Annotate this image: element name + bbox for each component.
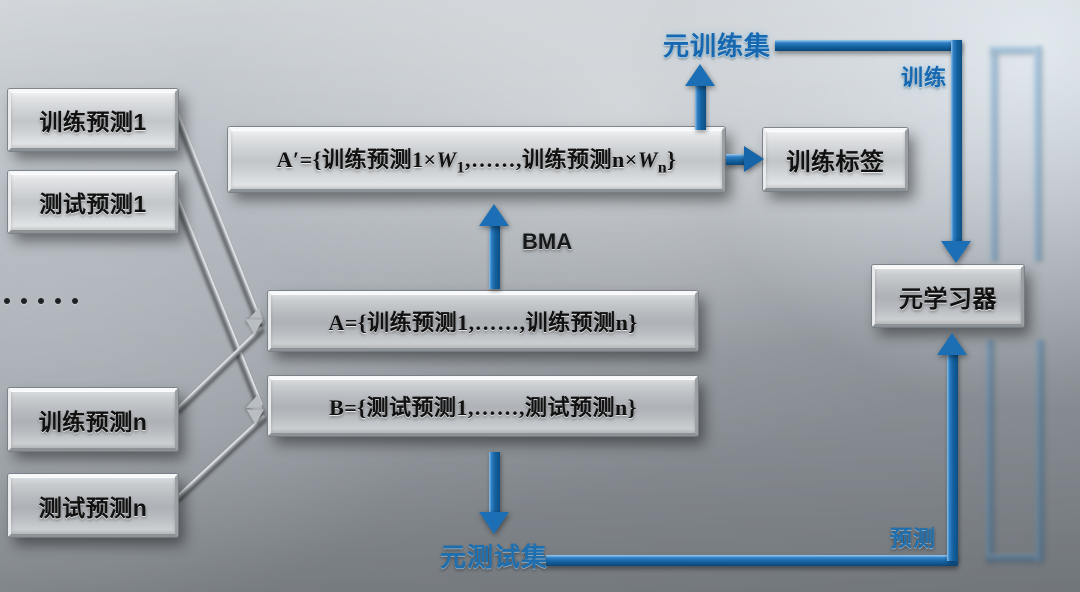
label-meta-train-set: 元训练集 xyxy=(663,26,771,63)
arrow-bma-shaft xyxy=(489,225,500,289)
arrow-aprime-to-trainlabel-head xyxy=(744,146,764,172)
label-bma: BMA xyxy=(522,229,572,255)
connector-testn-to-b xyxy=(174,414,267,501)
box-a[interactable]: A={训练预测1,……,训练预测n} xyxy=(268,291,698,351)
weight-symbol-1: W xyxy=(437,147,457,172)
box-test-pred-1[interactable]: 测试预测1 xyxy=(8,171,178,233)
route-train-arrowhead xyxy=(941,241,971,263)
a-prime-mid: ,……,训练预测n× xyxy=(465,147,638,172)
arrow-to-meta-test-shaft xyxy=(489,452,500,514)
box-b[interactable]: B={测试预测1,……,测试预测n} xyxy=(268,376,698,436)
label-predict: 预测 xyxy=(890,521,936,553)
box-train-label[interactable]: 训练标签 xyxy=(763,128,908,191)
box-label: 测试预测1 xyxy=(39,185,146,219)
route-predict-bottom-horizontal xyxy=(546,555,958,566)
label-meta-test-set: 元测试集 xyxy=(440,537,548,574)
a-prime-formula: A′={训练预测1×W1,……,训练预测n×Wn} xyxy=(277,142,677,177)
box-label: 训练标签 xyxy=(787,142,885,177)
box-train-pred-n[interactable]: 训练预测n xyxy=(8,388,178,451)
ellipsis-marker xyxy=(4,298,78,304)
a-formula: A={训练预测1,……,训练预测n} xyxy=(329,305,638,337)
box-label: 测试预测n xyxy=(39,489,148,523)
weight-sub-1: 1 xyxy=(457,159,465,176)
arrow-to-meta-train-shaft xyxy=(695,86,706,130)
label-train: 训练 xyxy=(901,60,947,92)
a-prime-lhs: A′={训练预测1× xyxy=(277,147,437,172)
box-a-prime[interactable]: A′={训练预测1×W1,……,训练预测n×Wn} xyxy=(228,127,725,192)
a-prime-rhs: } xyxy=(667,147,676,172)
box-label: 训练预测1 xyxy=(39,103,146,137)
arrow-bma-head xyxy=(479,204,509,226)
weight-symbol-n: W xyxy=(638,147,658,172)
route-train-top-horizontal xyxy=(775,40,962,51)
box-train-pred-1[interactable]: 训练预测1 xyxy=(8,89,178,151)
b-formula: B={测试预测1,……,测试预测n} xyxy=(329,390,637,422)
arrow-to-meta-test-head xyxy=(479,512,509,534)
connector-trainn-to-a xyxy=(174,326,264,413)
route-predict-arrowhead xyxy=(937,333,967,355)
box-label: 元学习器 xyxy=(899,279,997,314)
box-meta-learner[interactable]: 元学习器 xyxy=(872,265,1024,327)
box-label: 训练预测n xyxy=(39,403,148,437)
weight-sub-n: n xyxy=(658,159,667,176)
box-test-pred-n[interactable]: 测试预测n xyxy=(8,474,178,537)
route-train-vertical xyxy=(951,40,962,243)
arrow-to-meta-train-head xyxy=(685,64,715,86)
diagram-canvas: 训练预测1 测试预测1 训练预测n 测试预测n A′={训练预测1×W1,……,… xyxy=(0,0,1080,592)
route-predict-vertical xyxy=(947,355,958,561)
